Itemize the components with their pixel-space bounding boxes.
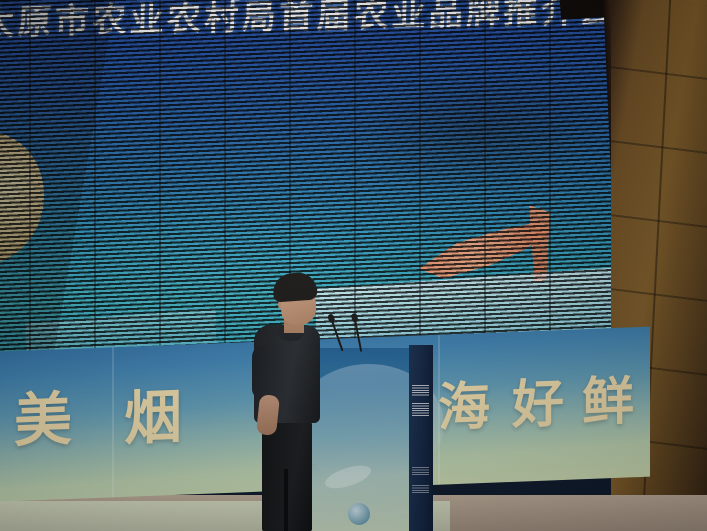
presenter-sleeve (252, 345, 282, 399)
stage-photo: 千 亩 园 太原市农业农村局首届农业品牌推介会 美 烟 海 好 鲜 (0, 0, 707, 531)
podium-footer-mark (412, 467, 429, 476)
backdrop-character: 好 (512, 378, 564, 432)
podium-orb-graphic (348, 503, 370, 525)
podium-logo-text (412, 403, 429, 416)
backdrop-character: 美 (14, 391, 72, 451)
presenter (248, 273, 332, 531)
podium-footer-mark (412, 485, 429, 494)
backdrop-character: 鲜 (582, 375, 634, 429)
presenter-leg-gap (284, 469, 288, 531)
presenter-hair (272, 271, 318, 302)
podium-logo-icon (412, 385, 429, 396)
backdrop-character: 烟 (124, 389, 182, 449)
emblem-icon (0, 129, 44, 266)
podium-side-panel (409, 345, 433, 531)
led-subtitle-text: 太原市农业农村局首届农业品牌推介会 (0, 0, 616, 41)
backdrop-character: 海 (438, 381, 490, 435)
backdrop-seam (112, 347, 114, 497)
